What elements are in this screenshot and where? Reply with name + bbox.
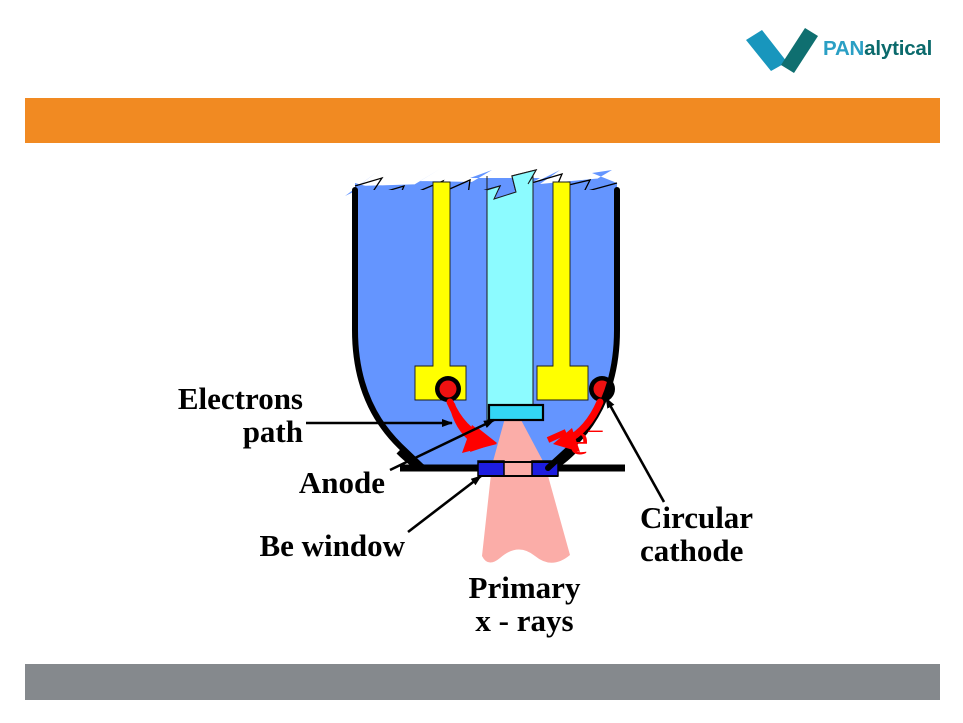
label-be-window: Be window	[95, 530, 405, 563]
electron-symbol-char: e	[569, 415, 589, 464]
label-circular-cathode: Circular cathode	[640, 502, 890, 568]
label-electron-symbol: e–	[569, 415, 603, 464]
label-electrons-path: Electrons path	[88, 383, 303, 449]
label-anode: Anode	[110, 467, 385, 500]
filament-left	[435, 376, 461, 402]
anode	[489, 405, 543, 420]
label-primary-xrays: Primary x - rays	[417, 572, 632, 638]
electron-symbol-superscript: –	[589, 414, 603, 445]
central-column	[487, 170, 536, 420]
